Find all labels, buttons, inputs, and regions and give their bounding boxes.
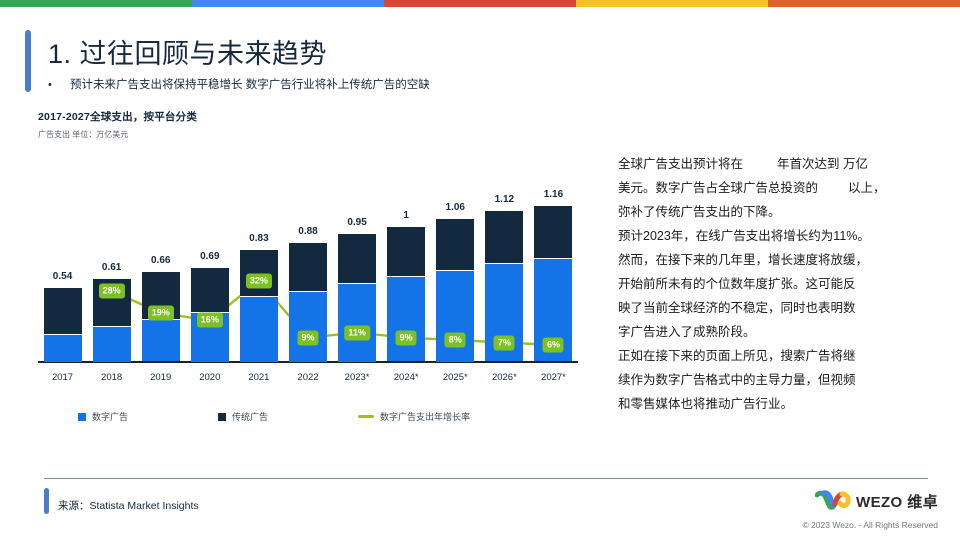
body-paragraph-5: 然而，在接下来的几年里，增长速度将放缓， bbox=[618, 248, 948, 272]
legend-item[interactable]: 传统广告 bbox=[218, 410, 268, 423]
x-axis-label: 2025* bbox=[443, 372, 468, 383]
growth-rate-label: 11% bbox=[344, 325, 370, 340]
footer-divider bbox=[44, 478, 928, 479]
bullet-icon: • bbox=[48, 77, 64, 93]
brand-row: WEZO 维卓 bbox=[802, 490, 938, 515]
bar-total-label: 0.95 bbox=[347, 217, 366, 228]
bar-segment-digital bbox=[436, 270, 474, 362]
bar-total-label: 0.61 bbox=[102, 262, 121, 273]
x-axis-label: 2017 bbox=[52, 372, 73, 383]
bar-total-label: 0.69 bbox=[200, 251, 219, 262]
body-paragraph-1: 全球广告支出预计将在年首次达到 万亿 bbox=[618, 152, 948, 176]
x-axis-label: 2023* bbox=[345, 372, 370, 383]
legend-box-swatch bbox=[218, 413, 226, 421]
legend-label: 数字广告 bbox=[92, 410, 128, 423]
body-paragraph-8: 字广告进入了成熟阶段。 bbox=[618, 320, 948, 344]
body-line-1a: 全球广告支出预计将在 bbox=[618, 157, 743, 171]
slide-root: 1. 过往回顾与未来趋势 • 预计未来广告支出将保持平稳增长 数字广告行业将补上… bbox=[0, 0, 960, 540]
body-paragraph-11: 和零售媒体也将推动广告行业。 bbox=[618, 392, 948, 416]
bar-total-label: 0.83 bbox=[249, 233, 268, 244]
growth-rate-label: 9% bbox=[396, 330, 417, 345]
body-line-2b: 以上， bbox=[848, 181, 886, 195]
bar-total-label: 0.66 bbox=[151, 255, 170, 266]
bar-segment-digital bbox=[44, 334, 82, 362]
chart-title: 2017-2027全球支出，按平台分类 bbox=[38, 110, 590, 124]
top-bar-segment-blue bbox=[192, 0, 384, 7]
body-paragraph-4: 预计2023年，在线广告支出将增长约为11%。 bbox=[618, 224, 948, 248]
legend-label: 传统广告 bbox=[232, 410, 268, 423]
legend-item[interactable]: 数字广告支出年增长率 bbox=[358, 410, 470, 423]
x-axis-label: 2024* bbox=[394, 372, 419, 383]
bar-group: 0.83 bbox=[240, 250, 278, 361]
top-bar-segment-green bbox=[0, 0, 192, 7]
body-paragraph-10: 续作为数字广告格式中的主导力量，但视频 bbox=[618, 368, 948, 392]
legend-label: 数字广告支出年增长率 bbox=[380, 410, 470, 423]
bar-total-label: 0.54 bbox=[53, 271, 72, 282]
bar-segment-digital bbox=[240, 296, 278, 361]
x-axis-label: 2019 bbox=[150, 372, 171, 383]
bar-segment-traditional bbox=[289, 243, 327, 291]
body-paragraph-2: 美元。数字广告占全球广告总投资的以上， bbox=[618, 176, 948, 200]
subtitle-row: • 预计未来广告支出将保持平稳增长 数字广告行业将补上传统广告的空缺 bbox=[48, 77, 430, 93]
body-line-2a: 美元。数字广告占全球广告总投资的 bbox=[618, 181, 818, 195]
bar-segment-traditional bbox=[534, 206, 572, 258]
title-accent-bar bbox=[25, 30, 31, 92]
copyright-text: © 2023 Wezo. - All Rights Reserved bbox=[802, 520, 938, 530]
growth-rate-label: 9% bbox=[297, 330, 318, 345]
top-bar-segment-red bbox=[384, 0, 576, 7]
bar-segment-digital bbox=[387, 276, 425, 361]
chart-container: 2017-2027全球支出，按平台分类 广告支出 单位：万亿美元 0.54201… bbox=[38, 110, 590, 430]
bar-group: 0.95 bbox=[338, 234, 376, 361]
brand-name: WEZO 维卓 bbox=[856, 495, 938, 511]
bar-total-label: 1.06 bbox=[446, 202, 465, 213]
wezo-logo-icon bbox=[815, 490, 851, 515]
bar-segment-digital bbox=[93, 326, 131, 362]
chart-plot-area: 0.5420170.6120180.6620190.6920200.832021… bbox=[38, 154, 590, 389]
growth-rate-label: 19% bbox=[148, 306, 174, 321]
bar-total-label: 1.16 bbox=[544, 189, 563, 200]
top-bar-segment-yellow bbox=[576, 0, 768, 7]
body-line-1b: 年首次达到 万亿 bbox=[777, 157, 868, 171]
footer-accent-bar bbox=[44, 488, 49, 514]
top-color-bar bbox=[0, 0, 960, 7]
bar-segment-traditional bbox=[44, 288, 82, 333]
legend-line-swatch bbox=[358, 415, 374, 418]
legend-box-swatch bbox=[78, 413, 86, 421]
page-title: 1. 过往回顾与未来趋势 bbox=[48, 32, 327, 71]
bar-total-label: 1.12 bbox=[495, 194, 514, 205]
x-axis-label: 2018 bbox=[101, 372, 122, 383]
growth-rate-label: 16% bbox=[197, 313, 223, 328]
bar-group: 0.54 bbox=[44, 288, 82, 360]
body-text-column: 全球广告支出预计将在年首次达到 万亿 美元。数字广告占全球广告总投资的以上， 弥… bbox=[618, 152, 948, 416]
bar-segment-traditional bbox=[436, 219, 474, 270]
top-bar-segment-orange bbox=[768, 0, 960, 7]
bar-segment-digital bbox=[338, 283, 376, 361]
x-axis-label: 2021 bbox=[248, 372, 269, 383]
growth-rate-label: 8% bbox=[445, 333, 466, 348]
bar-total-label: 1 bbox=[403, 210, 409, 221]
body-paragraph-6: 开始前所未有的个位数年度扩张。这可能反 bbox=[618, 272, 948, 296]
subtitle-text: 预计未来广告支出将保持平稳增长 数字广告行业将补上传统广告的空缺 bbox=[64, 77, 430, 93]
bar-segment-traditional bbox=[191, 268, 229, 312]
chart-legend: 数字广告传统广告数字广告支出年增长率 bbox=[38, 410, 558, 430]
legend-item[interactable]: 数字广告 bbox=[78, 410, 128, 423]
bar-segment-traditional bbox=[485, 211, 523, 263]
chart-subtitle: 广告支出 单位：万亿美元 bbox=[38, 129, 590, 140]
growth-rate-label: 6% bbox=[543, 338, 564, 353]
growth-rate-label: 7% bbox=[494, 335, 515, 350]
body-paragraph-9: 正如在接下来的页面上所见，搜索广告将继 bbox=[618, 344, 948, 368]
bar-total-label: 0.88 bbox=[298, 226, 317, 237]
brand-block: WEZO 维卓 © 2023 Wezo. - All Rights Reserv… bbox=[802, 490, 938, 530]
x-axis-label: 2027* bbox=[541, 372, 566, 383]
bar-segment-digital bbox=[289, 291, 327, 361]
bar-segment-digital bbox=[142, 319, 180, 361]
bar-segment-traditional bbox=[387, 227, 425, 276]
bar-segment-traditional bbox=[338, 234, 376, 283]
growth-rate-label: 28% bbox=[99, 283, 125, 298]
x-axis-label: 2020 bbox=[199, 372, 220, 383]
source-text: 来源：Statista Market Insights bbox=[58, 498, 199, 513]
body-paragraph-3: 弥补了传统广告支出的下降。 bbox=[618, 200, 948, 224]
x-axis-label: 2026* bbox=[492, 372, 517, 383]
x-axis-label: 2022 bbox=[297, 372, 318, 383]
body-paragraph-7: 映了当前全球经济的不稳定，同时也表明数 bbox=[618, 296, 948, 320]
growth-rate-label: 32% bbox=[246, 274, 272, 289]
